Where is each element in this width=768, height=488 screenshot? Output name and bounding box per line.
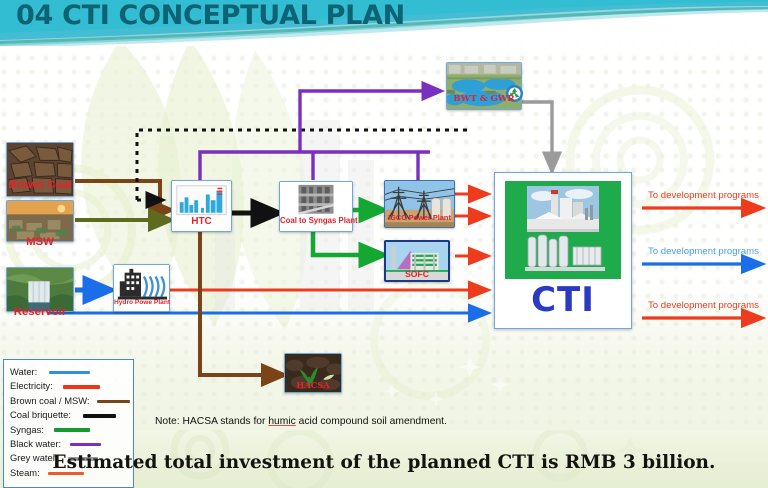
note-suffix: acid compound soil amendment. <box>296 416 447 427</box>
output-label-3: To development programs <box>648 300 759 311</box>
node-hacsa[interactable]: HACSA <box>284 353 342 393</box>
legend-label-black-water: Black water: <box>10 437 61 451</box>
label-hydro-power-plant: Hydro Powe Plant <box>114 299 169 306</box>
legend-swatch-syngas <box>54 428 90 431</box>
note-prefix: Note: HACSA stands for <box>155 416 268 427</box>
label-sofc: SOFC <box>386 269 448 279</box>
reservoir-thumbnail <box>7 268 73 311</box>
legend-swatch-water <box>49 371 90 374</box>
node-igcc-power-plant[interactable]: IGCC Power Plant <box>384 180 455 228</box>
label-msw: MSW <box>0 236 80 248</box>
cti-green-panel <box>505 181 621 279</box>
legend-label-coal-briquette: Coal briquette: <box>10 408 71 422</box>
cti-plant-photo <box>527 186 599 232</box>
node-cti[interactable]: CTI <box>494 172 632 329</box>
node-bwt-gwr[interactable]: BWT & GWR <box>446 62 522 110</box>
legend-item-black-water: Black water: <box>10 437 133 451</box>
label-igcc-power-plant: IGCC Power Plant <box>385 213 454 222</box>
legend-item-coal-briquette: Coal briquette: <box>10 408 133 422</box>
label-bwt-gwr: BWT & GWR <box>447 94 521 104</box>
legend-label-syngas: Syngas: <box>10 423 44 437</box>
legend-item-water: Water: <box>10 365 133 379</box>
legend-swatch-electricity <box>63 385 100 388</box>
note-text: Note: HACSA stands for humic acid compou… <box>155 416 447 427</box>
cti-equipment-photo <box>525 233 605 273</box>
legend-swatch-brown-coal-msw <box>97 400 130 403</box>
msw-thumbnail <box>7 201 73 241</box>
output-label-2: To development programs <box>648 246 759 257</box>
investment-statement: Estimated total investment of the planne… <box>0 452 768 473</box>
label-reservoir: Reservoir <box>0 306 80 318</box>
legend-item-brown-coal-msw: Brown coal / MSW: <box>10 394 133 408</box>
node-sofc[interactable]: SOFC <box>384 240 450 282</box>
output-label-1: To development programs <box>648 190 759 201</box>
slide-canvas: 04 CTI CONCEPTUAL PLAN <box>0 0 768 488</box>
node-htc[interactable]: HTC <box>171 180 232 232</box>
legend-label-brown-coal-msw: Brown coal / MSW: <box>10 394 90 408</box>
label-coal-to-syngas-plant: Coal to Syngas Plant <box>280 216 352 225</box>
node-hydro-power-plant[interactable]: Hydro Powe Plant <box>113 264 170 312</box>
node-coal-to-syngas-plant[interactable]: Coal to Syngas Plant <box>279 181 353 232</box>
label-hacsa: HACSA <box>285 380 341 390</box>
legend-swatch-coal-briquette <box>83 414 116 418</box>
note-underlined: humic <box>268 416 295 427</box>
label-brown-coal: Brown Coal <box>0 179 80 191</box>
legend-label-electricity: Electricity: <box>10 379 53 393</box>
legend-item-syngas: Syngas: <box>10 423 133 437</box>
legend-item-electricity: Electricity: <box>10 379 133 393</box>
legend-label-water: Water: <box>10 365 37 379</box>
legend-swatch-black-water <box>70 443 101 446</box>
label-htc: HTC <box>172 216 231 227</box>
label-cti: CTI <box>495 278 631 322</box>
